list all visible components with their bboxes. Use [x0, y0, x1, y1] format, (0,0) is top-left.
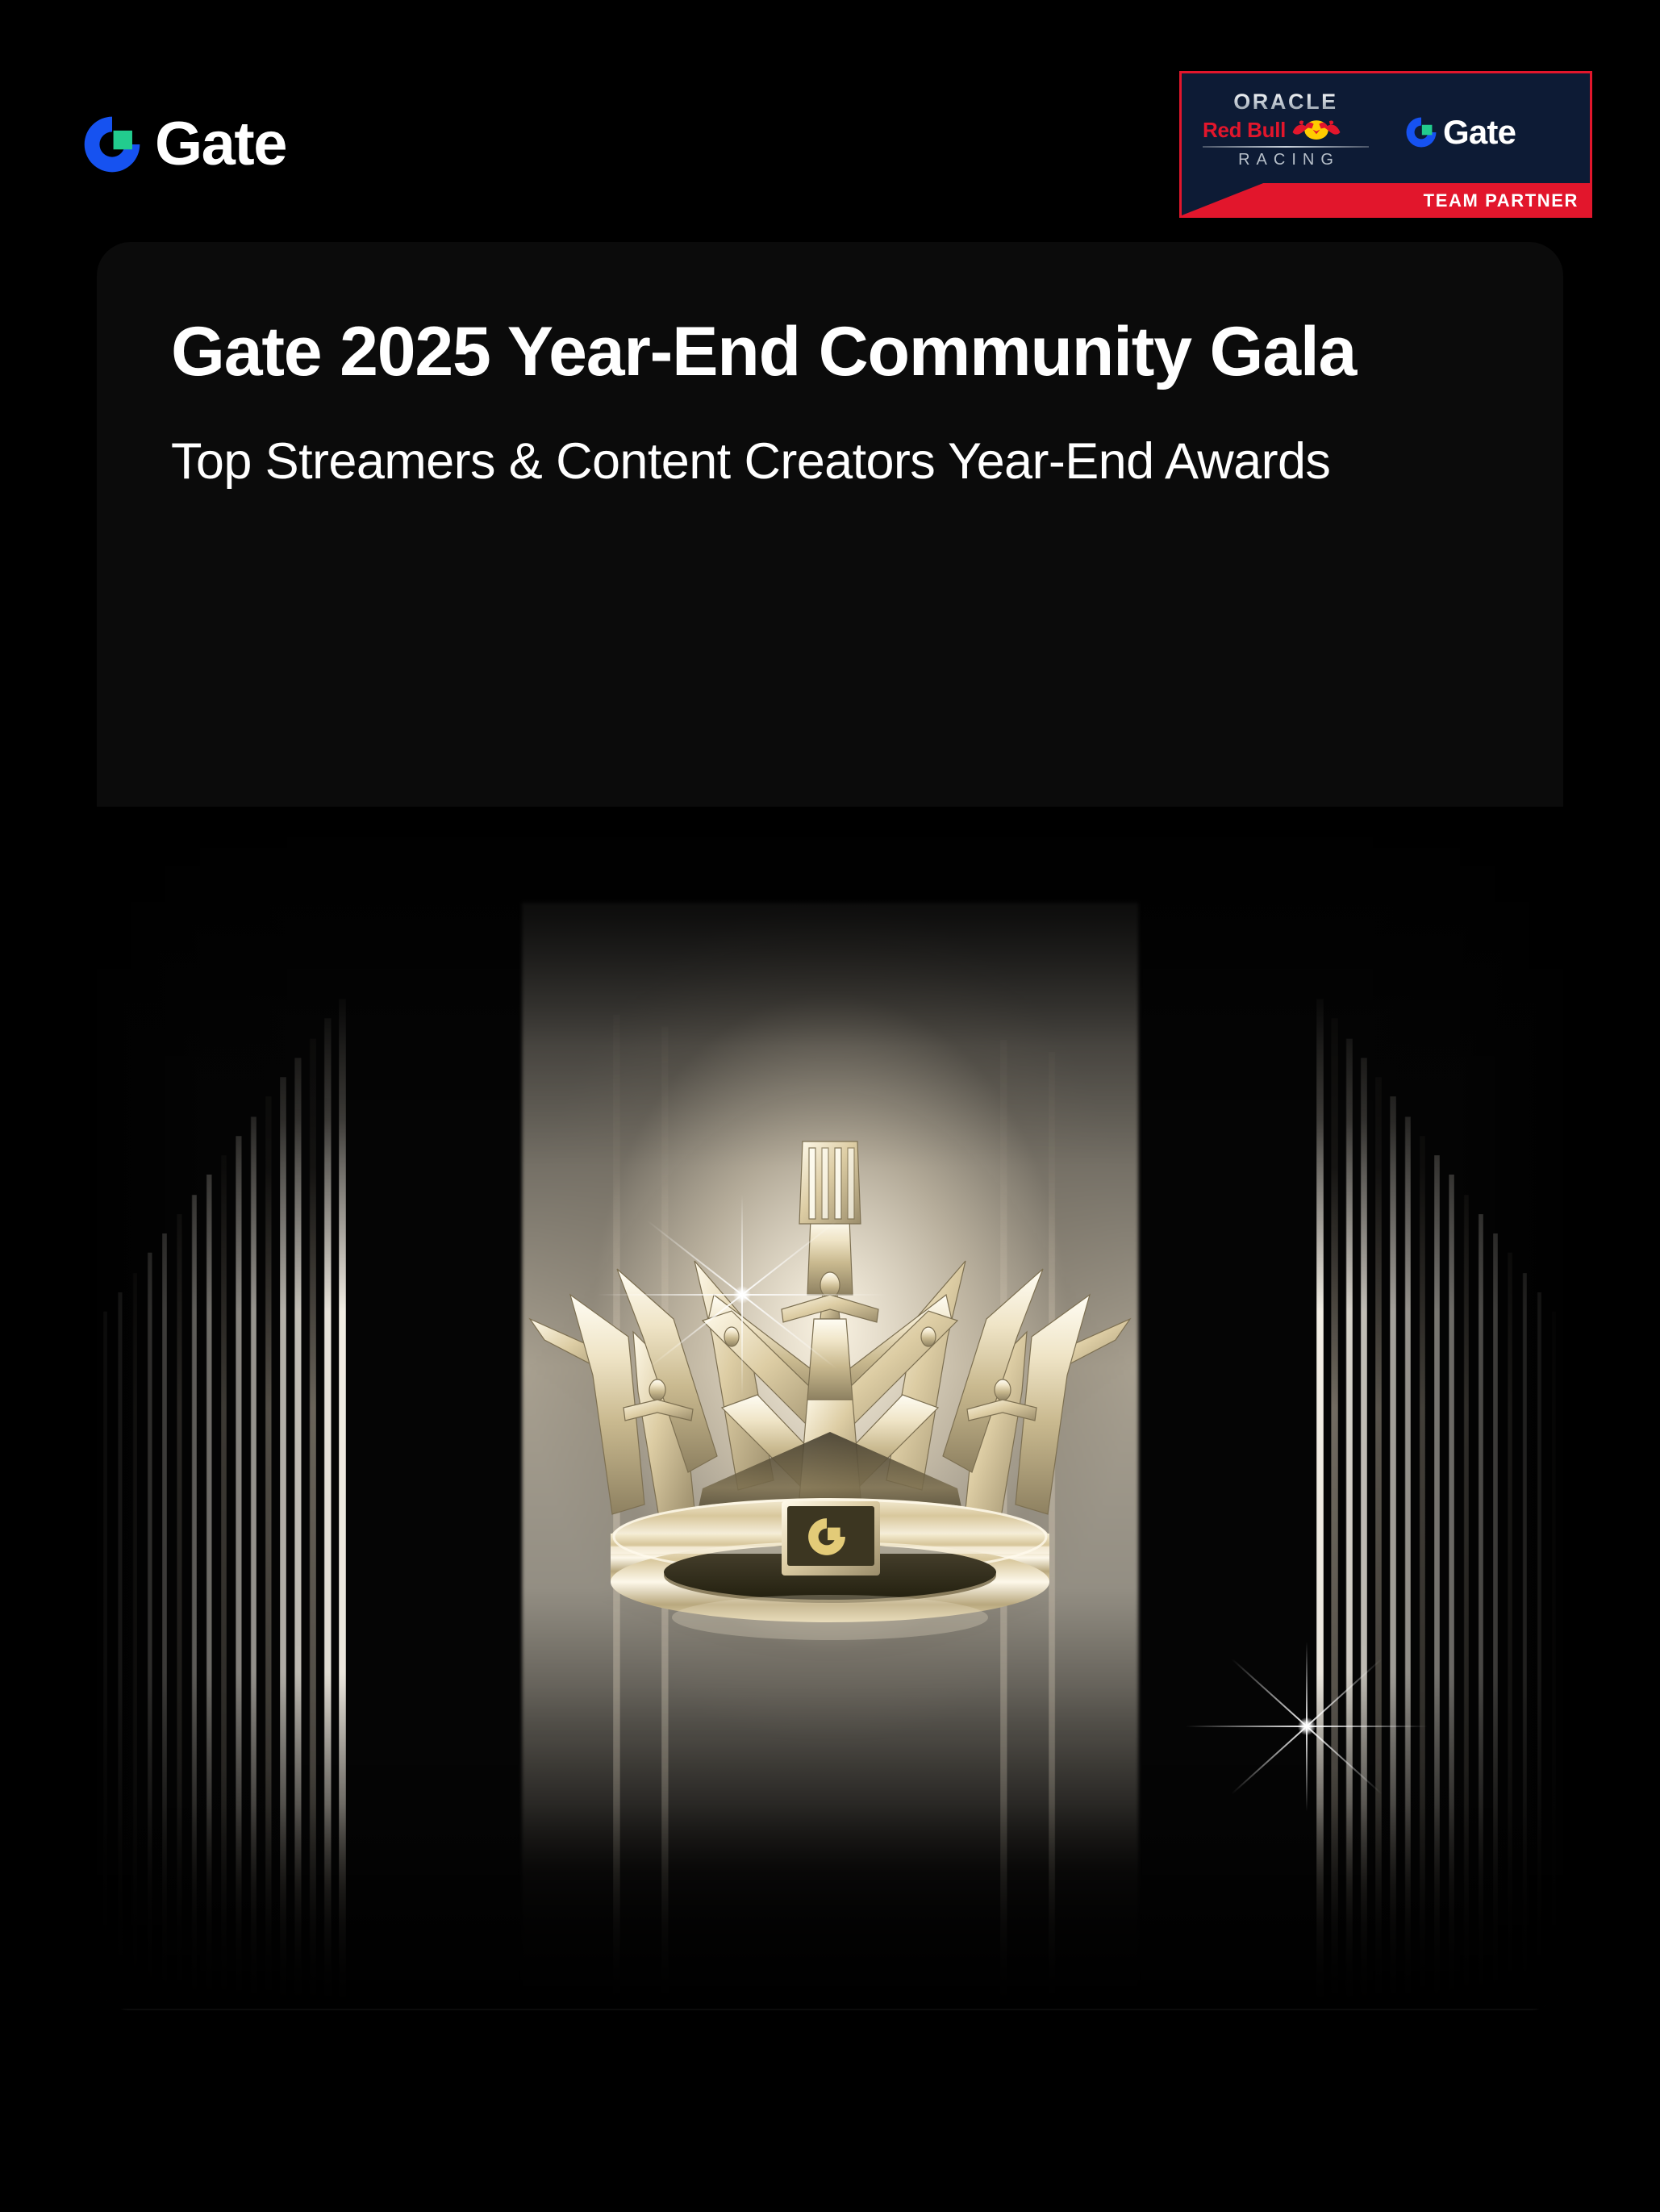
page-root: Gate ORACLE Red Bull	[0, 0, 1660, 2212]
crown-trophy-icon	[515, 1053, 1145, 1666]
page-title: Gate 2025 Year-End Community Gala	[171, 311, 1489, 393]
red-bull-racing-team-partner-badge[interactable]: ORACLE Red Bull	[1179, 71, 1592, 218]
team-partner-label: TEAM PARTNER	[1424, 192, 1579, 210]
red-bull-wordmark: Red Bull	[1203, 119, 1286, 140]
badge-gate-logo: Gate	[1404, 115, 1516, 149]
oracle-wordmark: ORACLE	[1203, 91, 1369, 113]
brand-wordmark: Gate	[155, 114, 286, 175]
gate-logo-icon	[1404, 115, 1438, 149]
page-subtitle: Top Streamers & Content Creators Year-En…	[171, 432, 1489, 491]
team-partner-banner: TEAM PARTNER	[1182, 183, 1590, 215]
red-bull-charging-bulls-icon	[1289, 119, 1344, 141]
crown-trophy-hero-image	[97, 807, 1563, 2009]
card-text-block: Gate 2025 Year-End Community Gala Top St…	[97, 242, 1563, 492]
racing-wordmark: RACING	[1203, 152, 1369, 168]
page-header: Gate ORACLE Red Bull	[0, 0, 1660, 242]
brand-logo[interactable]: Gate	[81, 113, 286, 176]
event-card[interactable]: Gate 2025 Year-End Community Gala Top St…	[97, 242, 1563, 2010]
oracle-red-bull-racing-lockup: ORACLE Red Bull	[1203, 91, 1369, 168]
badge-gate-wordmark: Gate	[1443, 115, 1516, 149]
gate-logo-icon	[81, 113, 144, 176]
badge-divider	[1203, 146, 1369, 148]
